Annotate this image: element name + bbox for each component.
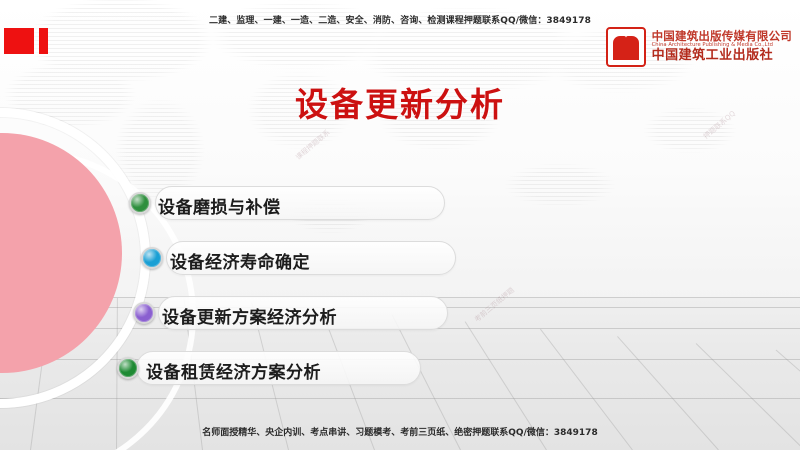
slide-canvas: 二建、监理、一建、一造、二造、安全、消防、咨询、检测课程押题联系QQ/微信：38… [0, 0, 800, 450]
bullet-label-2[interactable]: 设备经济寿命确定 [170, 248, 310, 273]
bullet-list: 设备磨损与补偿设备经济寿命确定设备更新方案经济分析设备租赁经济方案分析 [0, 0, 800, 450]
blue-bullet-dot-icon [141, 247, 163, 269]
purple-bullet-dot-icon [133, 302, 155, 324]
green-bullet-dot-icon [117, 357, 139, 379]
bottom-contact-banner: 名师面授精华、央企内训、考点串讲、习题模考、考前三页纸、绝密押题联系QQ/微信：… [0, 425, 800, 438]
green-bullet-dot-icon [129, 192, 151, 214]
bullet-label-4[interactable]: 设备租赁经济方案分析 [146, 358, 321, 383]
bullet-label-1[interactable]: 设备磨损与补偿 [158, 193, 281, 218]
bullet-label-3[interactable]: 设备更新方案经济分析 [162, 303, 337, 328]
